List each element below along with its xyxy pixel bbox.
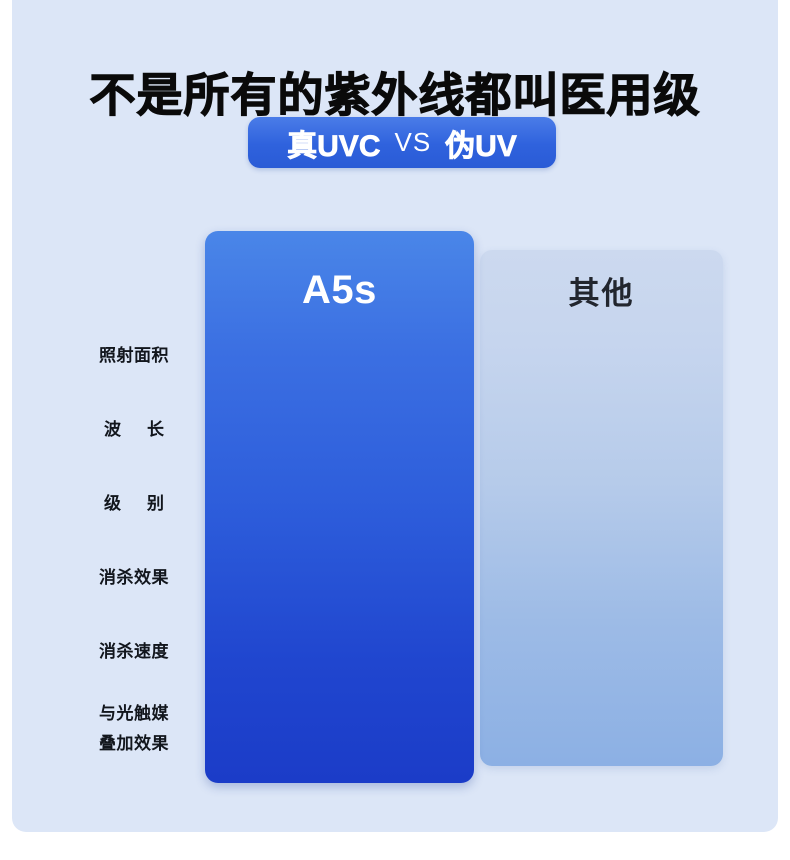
row-label-kill-effect: 消杀效果	[70, 565, 198, 591]
poster-root: 不是所有的紫外线都叫医用级 真UVC VS 伪UV 其他 A5s 照射面积 波长…	[12, 0, 778, 832]
badge-vs-label: VS	[392, 127, 433, 158]
row-label-column: 照射面积 波长 级别 消杀效果 消杀速度 与光触媒 叠加效果	[70, 231, 198, 783]
badge-left-label: 真UVC	[287, 121, 380, 165]
comparison-card-other: 其他	[480, 250, 723, 766]
card-header-other: 其他	[480, 268, 723, 313]
row-label-kill-speed: 消杀速度	[70, 639, 198, 665]
comparison-badge: 真UVC VS 伪UV	[248, 117, 556, 168]
badge-right-label: 伪UV	[445, 121, 517, 165]
comparison-card-a5s: A5s	[205, 231, 474, 783]
row-label-grade: 级别	[70, 491, 198, 517]
row-label-irradiation-area: 照射面积	[70, 343, 198, 369]
card-header-a5s: A5s	[205, 268, 474, 313]
row-label-photocatalyst-synergy: 与光触媒 叠加效果	[70, 699, 198, 759]
page-title: 不是所有的紫外线都叫医用级	[12, 67, 778, 123]
row-label-wavelength: 波长	[70, 417, 198, 443]
